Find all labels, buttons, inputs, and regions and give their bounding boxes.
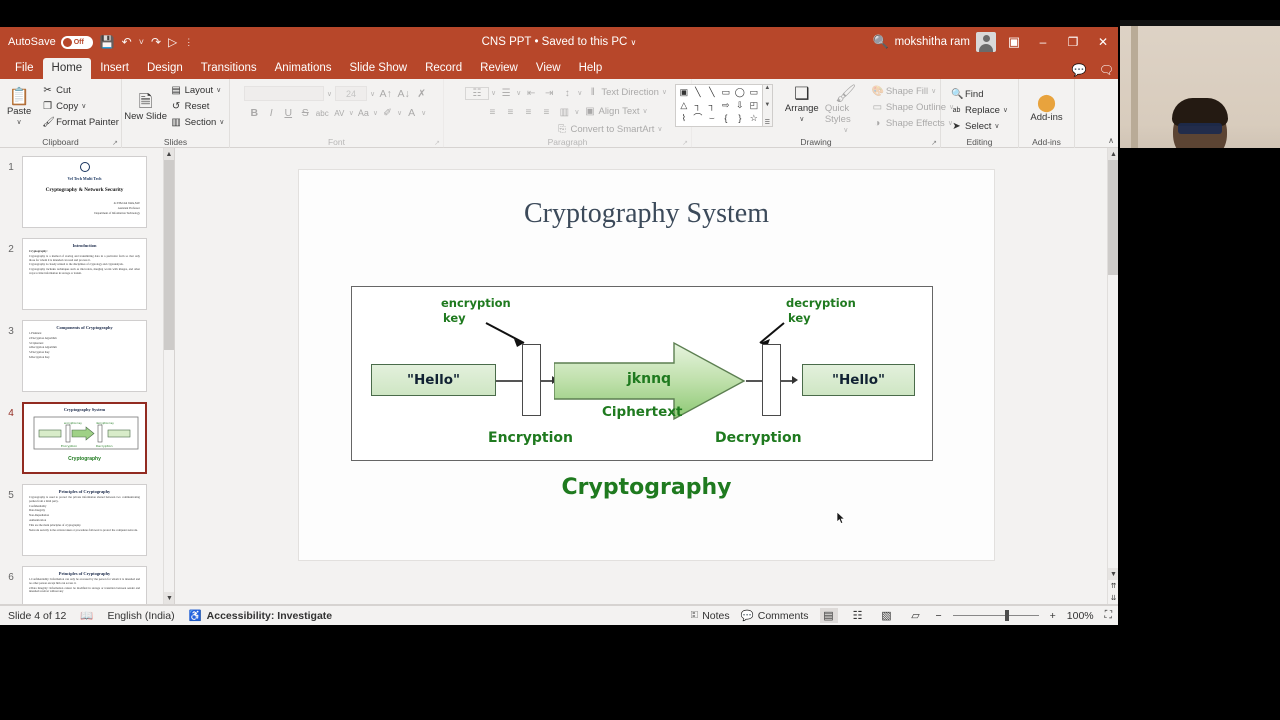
ribbon-display-icon[interactable]: ▣ <box>1000 27 1028 57</box>
align-text-label: Align Text <box>598 106 639 118</box>
chevron-up-icon[interactable]: ∧ <box>1108 136 1114 145</box>
bullet-item: Confidentiality <box>29 505 140 509</box>
tab-help[interactable]: Help <box>570 58 612 79</box>
find-label: Find <box>965 89 983 101</box>
text-direction-label: Text Direction <box>601 87 659 99</box>
align-right-button[interactable]: ≡ <box>520 107 536 118</box>
notes-label: Notes <box>702 610 729 622</box>
chevron-down-icon[interactable]: ∨ <box>17 117 22 128</box>
avatar[interactable] <box>976 32 996 52</box>
thumbnail-scrollbar[interactable]: ▲ ▼ <box>163 148 174 604</box>
quick-styles-label: Quick Styles <box>825 103 867 125</box>
slide-title[interactable]: Cryptography System <box>299 198 994 230</box>
diagram-caption: Cryptography <box>24 456 145 462</box>
chevron-down-icon[interactable]: ∨ <box>349 109 354 117</box>
autosave-state: Off <box>74 39 84 46</box>
fit-slide-button[interactable]: ⛶ <box>1105 609 1112 622</box>
slide-thumbnail-1[interactable]: 1 Vel Tech Multi Tech Cryptography & Net… <box>0 156 160 228</box>
plaintext-right-box[interactable]: "Hello" <box>802 364 915 396</box>
font-name-input[interactable] <box>244 86 324 101</box>
slide-number: 5 <box>0 484 22 501</box>
shape-left-brace-icon[interactable]: { <box>719 112 733 125</box>
chevron-down-icon[interactable]: ∨ <box>643 106 648 118</box>
format-painter-icon: 🖌 <box>42 117 53 129</box>
slide-thumbnail-2[interactable]: 2 Introduction Cryptography: Cryptograph… <box>0 238 160 310</box>
comments-icon[interactable]: 💬 <box>1072 63 1087 77</box>
ribbon-group-slides: 🗎 New Slide ▤ Layout ∨ ↺ Reset <box>122 79 230 148</box>
plaintext-right-value: "Hello" <box>832 372 885 388</box>
chevron-down-icon[interactable]: ∨ <box>657 124 662 136</box>
shadow-button[interactable]: S <box>298 107 313 119</box>
slide-number: 1 <box>0 156 22 173</box>
screen-root: AutoSave Off 💾 ↶ ˅ ↷ ▷ ⋮ CNS PPT • Saved… <box>0 0 1280 720</box>
new-slide-icon: 🗎 <box>139 92 153 111</box>
chevron-down-icon[interactable]: ∨ <box>216 85 221 97</box>
scrollbar-thumb[interactable] <box>164 160 175 350</box>
user-account[interactable]: mokshitha ram <box>895 32 1000 52</box>
arrange-label: Arrange <box>785 103 819 114</box>
tab-view[interactable]: View <box>527 58 570 79</box>
zoom-handle[interactable] <box>1005 610 1009 621</box>
status-bar: Slide 4 of 12 📖 English (India) ♿ Access… <box>0 605 1118 625</box>
reset-button[interactable]: ↺ Reset <box>168 99 228 115</box>
ribbon-group-paragraph: ☷ ∨ ☰ ∨ ⇤ ⇥ ↕ ∨ ‖ Text Direction ∨ ≡ <box>444 79 692 148</box>
change-case-button[interactable]: Aa <box>356 108 371 118</box>
undo-dropdown-icon[interactable]: ˅ <box>139 37 144 47</box>
ciphertext-label: Ciphertext <box>602 404 682 420</box>
reset-icon: ↺ <box>171 101 182 113</box>
undo-icon[interactable]: ↶ <box>122 36 132 48</box>
bullet-item: 1.Confidentiality: Information can only … <box>29 578 140 586</box>
autosave-knob <box>63 38 72 47</box>
scroll-down-icon[interactable]: ▼ <box>1108 568 1118 580</box>
autosave-toggle[interactable]: Off <box>61 36 93 49</box>
select-label: Select <box>965 121 991 133</box>
arrange-button[interactable]: ❑ Arrange ∨ <box>779 84 825 125</box>
section-label: Section <box>185 117 217 129</box>
scroll-down-icon[interactable]: ▼ <box>164 592 175 604</box>
cryptography-diagram[interactable]: encryption key decryption key <box>351 286 933 461</box>
language-indicator[interactable]: English (India) <box>107 610 174 622</box>
accessibility-label: Accessibility: Investigate <box>207 610 332 622</box>
encryption-key-bar[interactable] <box>522 344 541 416</box>
slide-title: Principles of Cryptography <box>23 571 146 576</box>
slide-preview[interactable]: Introduction Cryptography: Cryptography … <box>22 238 147 310</box>
restore-button[interactable]: ❐ <box>1058 27 1088 57</box>
shape-rounded-rect-icon[interactable]: ▭ <box>747 86 761 99</box>
addins-label: Add-ins <box>1030 112 1062 123</box>
redo-icon[interactable]: ↷ <box>151 36 161 48</box>
start-presentation-icon[interactable]: ▷ <box>168 36 177 48</box>
group-label-editing: Editing <box>941 137 1018 147</box>
reset-label: Reset <box>185 101 210 113</box>
tab-insert[interactable]: Insert <box>91 58 138 79</box>
align-center-button[interactable]: ≡ <box>502 107 518 118</box>
text-highlight-button[interactable]: ✐ <box>380 107 395 119</box>
font-color-button[interactable]: A <box>404 107 419 119</box>
chevron-down-icon[interactable]: ∨ <box>931 86 936 98</box>
next-slide-button[interactable]: ⇊ <box>1108 592 1118 604</box>
zoom-level[interactable]: 100% <box>1067 610 1094 622</box>
svg-text:Encryption: Encryption <box>61 444 77 448</box>
decrease-font-size-icon[interactable]: A↓ <box>396 88 411 100</box>
mini-diagram: Encryption Decryption encryption key dec… <box>24 414 147 456</box>
group-label-font: Font <box>230 137 443 147</box>
slide-preview[interactable]: Principles of Cryptography 1.Confidentia… <box>22 566 147 604</box>
zoom-in-button[interactable]: + <box>1050 610 1056 622</box>
shape-scribble-icon[interactable]: ⌇ <box>677 112 691 125</box>
user-name: mokshitha ram <box>895 36 970 48</box>
ciphertext-value: jknnq <box>627 371 671 387</box>
slide-preview[interactable]: Components of Cryptography 1.Plaintext 2… <box>22 320 147 392</box>
zoom-out-button[interactable]: − <box>936 610 942 622</box>
tab-design[interactable]: Design <box>138 58 192 79</box>
scroll-down-icon[interactable]: ▼ <box>764 102 770 108</box>
smartart-icon: ⎘ <box>556 124 567 136</box>
shape-fill-icon: 🎨 <box>872 86 883 98</box>
connector-left <box>496 380 524 382</box>
svg-text:Decryption: Decryption <box>96 444 113 448</box>
convert-to-smartart-button[interactable]: ⎘ Convert to SmartArt ∨ <box>553 122 665 138</box>
bullet-item: Network security is the actions taken or… <box>29 529 140 533</box>
encryption-label: Encryption <box>488 430 573 446</box>
slide-canvas-area[interactable]: Cryptography System encryption key decry… <box>175 148 1118 604</box>
text-direction-button[interactable]: ‖ Text Direction ∨ <box>584 85 670 101</box>
presenter-line-3: Department of Information Technology <box>29 212 140 216</box>
new-slide-button[interactable]: 🗎 New Slide <box>124 92 168 122</box>
chevron-down-icon[interactable]: ∨ <box>577 89 582 97</box>
shape-outline-label: Shape Outline <box>886 102 946 114</box>
slide-preview[interactable]: Cryptography System Encryption Decryptio… <box>22 402 147 474</box>
shape-outline-icon: ▭ <box>872 102 883 114</box>
accessibility-status[interactable]: ♿ Accessibility: Investigate <box>189 609 333 622</box>
align-text-button[interactable]: ▣ Align Text ∨ <box>581 104 650 120</box>
shape-rect-icon[interactable]: ▣ <box>677 86 691 99</box>
scroll-up-icon[interactable]: ▲ <box>164 148 174 160</box>
search-icon[interactable]: 🔍 <box>867 27 895 57</box>
mouse-cursor <box>836 511 848 525</box>
zoom-track <box>953 615 1039 617</box>
decryption-label: Decryption <box>715 430 802 446</box>
align-text-icon: ▣ <box>584 106 595 118</box>
tab-file[interactable]: File <box>6 58 43 79</box>
format-painter-label: Format Painter <box>56 117 119 129</box>
copy-button[interactable]: ❐ Copy ∨ <box>39 99 122 115</box>
share-icon[interactable]: 🗨 <box>1099 63 1114 77</box>
bullet-item: 2.Data Integrity: Information cannot be … <box>29 587 140 595</box>
find-button[interactable]: 🔍 Find <box>948 87 1011 103</box>
increase-font-size-icon[interactable]: A↑ <box>378 88 393 100</box>
search-icon: 🔍 <box>951 89 962 101</box>
tab-animations[interactable]: Animations <box>266 58 341 79</box>
addins-icon: ⬤ <box>1037 93 1056 112</box>
ribbon-tabs: File Home Insert Design Transitions Anim… <box>0 57 1118 79</box>
previous-slide-button[interactable]: ⇈ <box>1108 580 1118 592</box>
quick-access-toolbar: AutoSave Off 💾 ↶ ˅ ↷ ▷ ⋮ <box>0 36 193 49</box>
shape-effects-label: Shape Effects <box>886 118 945 130</box>
top-letterbox <box>1120 20 1280 26</box>
accessibility-icon: ♿ <box>189 609 202 622</box>
arrowhead-right <box>792 376 798 384</box>
shape-curve-icon[interactable]: ⌣ <box>705 112 719 125</box>
slide-vertical-scrollbar[interactable]: ▲ ▼ ⇈ ⇊ <box>1107 148 1118 604</box>
slide-preview[interactable]: Vel Tech Multi Tech Cryptography & Netwo… <box>22 156 147 228</box>
slide-sorter-button[interactable]: ☷ <box>849 608 867 623</box>
paste-label: Paste <box>7 106 31 117</box>
paste-button[interactable]: 📋 Paste ∨ <box>0 87 39 128</box>
shape-arrow-icon[interactable]: ╲ <box>705 86 719 99</box>
zoom-slider[interactable] <box>953 610 1039 622</box>
comments-label: Comments <box>758 610 809 622</box>
org-logo-icon <box>80 162 90 172</box>
chevron-down-icon[interactable]: ∨ <box>994 121 999 133</box>
tab-record[interactable]: Record <box>416 58 471 79</box>
bullet-item: Cryptography includes techniques such as… <box>29 268 140 276</box>
ribbon: 📋 Paste ∨ ✂ Cut ❐ Copy ∨ <box>0 79 1118 148</box>
decrease-indent-button[interactable]: ⇤ <box>523 88 539 99</box>
select-icon: ➤ <box>951 121 962 133</box>
align-left-button[interactable]: ≡ <box>484 107 500 118</box>
decryption-key-bar[interactable] <box>762 344 781 416</box>
numbering-button[interactable]: ☰ <box>498 88 514 99</box>
select-button[interactable]: ➤ Select ∨ <box>948 119 1011 135</box>
webcam-video-feed[interactable] <box>1120 20 1280 210</box>
group-label-clipboard: Clipboard <box>0 137 121 147</box>
scrollbar-thumb[interactable] <box>1108 160 1118 275</box>
chevron-down-icon[interactable]: ∨ <box>81 101 86 113</box>
plaintext-left-box[interactable]: "Hello" <box>371 364 496 396</box>
scissors-icon: ✂ <box>42 85 53 97</box>
shape-block-arrow-icon[interactable]: ⇨ <box>719 99 733 112</box>
underline-button[interactable]: U <box>281 107 296 119</box>
slideshow-button[interactable]: ▱ <box>907 608 925 623</box>
autosave-control[interactable]: AutoSave Off <box>8 36 93 49</box>
editor-body: 1 Vel Tech Multi Tech Cryptography & Net… <box>0 148 1118 604</box>
save-icon[interactable]: 💾 <box>100 36 115 48</box>
shapes-scroll[interactable]: ▲ ▼ ☰ <box>763 84 773 127</box>
shapes-more-icon[interactable]: ☰ <box>765 119 770 126</box>
webcam-frame <box>1120 20 1280 210</box>
shape-folded-corner-icon[interactable]: ◰ <box>747 99 761 112</box>
group-label-slides: Slides <box>122 137 229 147</box>
shape-triangle-icon[interactable]: △ <box>677 99 691 112</box>
org-name: Vel Tech Multi Tech <box>23 176 146 181</box>
slide-title: Cryptography System <box>24 407 145 412</box>
shape-rectangle-icon[interactable]: ▭ <box>719 86 733 99</box>
chevron-down-icon[interactable]: ∨ <box>799 114 804 125</box>
quick-styles-button[interactable]: 🖌 Quick Styles ∨ <box>825 84 867 136</box>
line-spacing-button[interactable]: ↕ <box>559 88 575 99</box>
chevron-down-icon[interactable]: ∨ <box>219 117 224 129</box>
chevron-down-icon[interactable]: ∨ <box>373 109 378 117</box>
cryptography-caption[interactable]: Cryptography <box>299 475 994 500</box>
group-label-addins: Add-ins <box>1019 137 1074 147</box>
bullet-item: Cryptography is a method of storing and … <box>29 255 140 263</box>
format-painter-button[interactable]: 🖌 Format Painter <box>39 115 122 131</box>
new-slide-label: New Slide <box>124 111 167 122</box>
character-spacing-button[interactable]: AV <box>332 109 347 118</box>
bullet-item: Cryptography is used to protect the priv… <box>29 496 140 504</box>
slide-preview[interactable]: Principles of Cryptography Cryptography … <box>22 484 147 556</box>
notes-icon: 🗉 <box>691 607 699 625</box>
chevron-down-icon[interactable]: ∨ <box>370 90 375 98</box>
slide-number: 4 <box>0 402 22 419</box>
slide-title: Principles of Cryptography <box>23 489 146 494</box>
normal-view-button[interactable]: ▤ <box>820 608 838 623</box>
addins-button[interactable]: ⬤ Add-ins <box>1025 93 1069 123</box>
title-bar-right: 🔍 mokshitha ram ▣ – ❐ ✕ <box>867 27 1118 57</box>
chevron-down-icon[interactable]: ∨ <box>1003 105 1008 117</box>
layout-icon: ▤ <box>171 85 182 97</box>
notes-button[interactable]: 🗉 Notes <box>691 607 730 625</box>
clear-formatting-icon[interactable]: ✗ <box>414 88 429 100</box>
paragraph-dialog-launcher[interactable]: ↗ <box>682 139 688 147</box>
clipboard-dialog-launcher[interactable]: ↗ <box>112 139 118 147</box>
comment-icon: 💬 <box>741 609 754 622</box>
title-bar: AutoSave Off 💾 ↶ ˅ ↷ ▷ ⋮ CNS PPT • Saved… <box>0 27 1118 57</box>
slide-title: Introduction <box>23 243 146 248</box>
cut-button[interactable]: ✂ Cut <box>39 83 122 99</box>
strikethrough-button[interactable]: abc <box>315 109 330 118</box>
ribbon-group-editing: 🔍 Find ab Replace ∨ ➤ Select ∨ Editing <box>941 79 1019 148</box>
bullet-item: This are the main principles of cryptogr… <box>29 524 140 528</box>
shape-elbow-icon[interactable]: ┐ <box>691 99 705 112</box>
columns-button[interactable]: ▥ <box>556 107 572 118</box>
person-hair <box>1172 98 1228 126</box>
bullets-button[interactable]: ☷ <box>465 87 489 100</box>
tab-transitions[interactable]: Transitions <box>192 58 266 79</box>
slide-thumbnail-5[interactable]: 5 Principles of Cryptography Cryptograph… <box>0 484 160 556</box>
comments-button[interactable]: 💬 Comments <box>741 609 809 622</box>
shape-right-brace-icon[interactable]: } <box>733 112 747 125</box>
document-title[interactable]: CNS PPT • Saved to this PC <box>482 36 628 48</box>
slide-thumbnail-4[interactable]: 4 Cryptography System Encryption <box>0 402 160 474</box>
reading-view-button[interactable]: ▧ <box>878 608 896 623</box>
slide-number: 2 <box>0 238 22 255</box>
cut-label: Cut <box>56 85 71 97</box>
slide-title: Components of Cryptography <box>23 325 146 330</box>
chevron-down-icon[interactable]: ∨ <box>397 109 402 117</box>
chevron-down-icon[interactable]: ∨ <box>327 90 332 98</box>
person-glasses <box>1178 123 1222 134</box>
svg-text:encryption key: encryption key <box>64 422 82 425</box>
scroll-up-icon[interactable]: ▲ <box>1108 148 1118 160</box>
font-size-input[interactable]: 24 <box>335 86 367 101</box>
slide-thumbnail-list: 1 Vel Tech Multi Tech Cryptography & Net… <box>0 148 174 604</box>
ribbon-group-clipboard: 📋 Paste ∨ ✂ Cut ❐ Copy ∨ <box>0 79 122 148</box>
qat-overflow-icon[interactable]: ⋮ <box>184 37 193 48</box>
shape-fill-label: Shape Fill <box>886 86 928 98</box>
bullet-item: 6.Decryption Key <box>29 356 140 360</box>
shape-down-arrow-icon[interactable]: ⇩ <box>733 99 747 112</box>
copy-icon: ❐ <box>42 101 53 113</box>
text-direction-icon: ‖ <box>587 87 598 99</box>
close-button[interactable]: ✕ <box>1088 27 1118 57</box>
section-icon: ▥ <box>171 117 182 129</box>
svg-text:decryption key: decryption key <box>96 422 114 425</box>
shape-arc-icon[interactable]: ⌒ <box>691 112 705 125</box>
chevron-down-icon[interactable]: ∨ <box>843 125 848 136</box>
quick-styles-icon: 🖌 <box>835 84 857 103</box>
shapes-gallery[interactable]: ▣ ╲ ╲ ▭ ◯ ▭ △ ┐ ┐ ⇨ ⇩ ◰ ⌇ ⌒ ⌣ <box>675 84 763 127</box>
shape-line-icon[interactable]: ╲ <box>691 86 705 99</box>
tabs-right-actions: 💬 🗨 <box>1072 63 1114 77</box>
slide-number: 6 <box>0 566 22 583</box>
group-label-paragraph: Paragraph <box>444 137 691 147</box>
chevron-down-icon[interactable]: ∨ <box>491 89 496 97</box>
chevron-down-icon[interactable]: ∨ <box>421 109 426 117</box>
layout-button[interactable]: ▤ Layout ∨ <box>168 83 228 99</box>
slide-thumbnail-panel[interactable]: 1 Vel Tech Multi Tech Cryptography & Net… <box>0 148 175 604</box>
paste-icon: 📋 <box>9 87 30 106</box>
spell-check-icon[interactable]: 📖 <box>80 609 93 622</box>
drawing-dialog-launcher[interactable]: ↗ <box>931 139 937 147</box>
slide-title: Cryptography & Network Security <box>23 187 146 193</box>
ribbon-group-drawing: ▣ ╲ ╲ ▭ ◯ ▭ △ ┐ ┐ ⇨ ⇩ ◰ ⌇ ⌒ ⌣ <box>692 79 941 148</box>
copy-label: Copy <box>56 101 78 113</box>
justify-button[interactable]: ≡ <box>538 107 554 118</box>
tab-review[interactable]: Review <box>471 58 527 79</box>
shape-star-icon[interactable]: ☆ <box>747 112 761 125</box>
ribbon-group-font: ∨ 24 ∨ A↑ A↓ ✗ B I U S abc AV ∨ Aa ∨ <box>230 79 444 148</box>
increase-indent-button[interactable]: ⇥ <box>541 88 557 99</box>
shape-oval-icon[interactable]: ◯ <box>733 86 747 99</box>
layout-label: Layout <box>185 85 214 97</box>
minimize-button[interactable]: – <box>1028 27 1058 57</box>
tab-slide-show[interactable]: Slide Show <box>341 58 417 79</box>
replace-button[interactable]: ab Replace ∨ <box>948 103 1011 119</box>
scroll-up-icon[interactable]: ▲ <box>764 85 770 91</box>
tab-home[interactable]: Home <box>43 58 92 79</box>
chevron-down-icon[interactable]: ∨ <box>516 89 521 97</box>
ribbon-group-addins: ⬤ Add-ins Add-ins <box>1019 79 1075 148</box>
powerpoint-window: AutoSave Off 💾 ↶ ˅ ↷ ▷ ⋮ CNS PPT • Saved… <box>0 27 1118 625</box>
section-button[interactable]: ▥ Section ∨ <box>168 115 228 131</box>
group-label-drawing: Drawing <box>692 137 940 147</box>
shape-elbow2-icon[interactable]: ┐ <box>705 99 719 112</box>
chevron-down-icon[interactable]: ∨ <box>631 38 637 47</box>
replace-icon: ab <box>951 105 962 117</box>
slide-thumbnail-3[interactable]: 3 Components of Cryptography 1.Plaintext… <box>0 320 160 392</box>
bold-button[interactable]: B <box>247 107 262 119</box>
chevron-down-icon[interactable]: ∨ <box>574 108 579 116</box>
font-dialog-launcher[interactable]: ↗ <box>434 139 440 147</box>
plaintext-left-value: "Hello" <box>407 372 460 388</box>
slide-thumbnail-6[interactable]: 6 Principles of Cryptography 1.Confident… <box>0 566 160 604</box>
slide-number: 3 <box>0 320 22 337</box>
chevron-down-icon[interactable]: ∨ <box>662 87 667 99</box>
arrange-icon: ❑ <box>794 84 809 103</box>
bullet-item: 2.Encryption Algorithm <box>29 337 140 341</box>
autosave-label: AutoSave <box>8 36 56 48</box>
slide-counter[interactable]: Slide 4 of 12 <box>8 610 66 622</box>
bottom-letterbox <box>1120 148 1280 210</box>
current-slide[interactable]: Cryptography System encryption key decry… <box>298 169 995 561</box>
italic-button[interactable]: I <box>264 107 279 119</box>
convert-smartart-label: Convert to SmartArt <box>570 124 654 136</box>
shape-effects-icon: ◑ <box>872 118 883 130</box>
replace-label: Replace <box>965 105 1000 117</box>
